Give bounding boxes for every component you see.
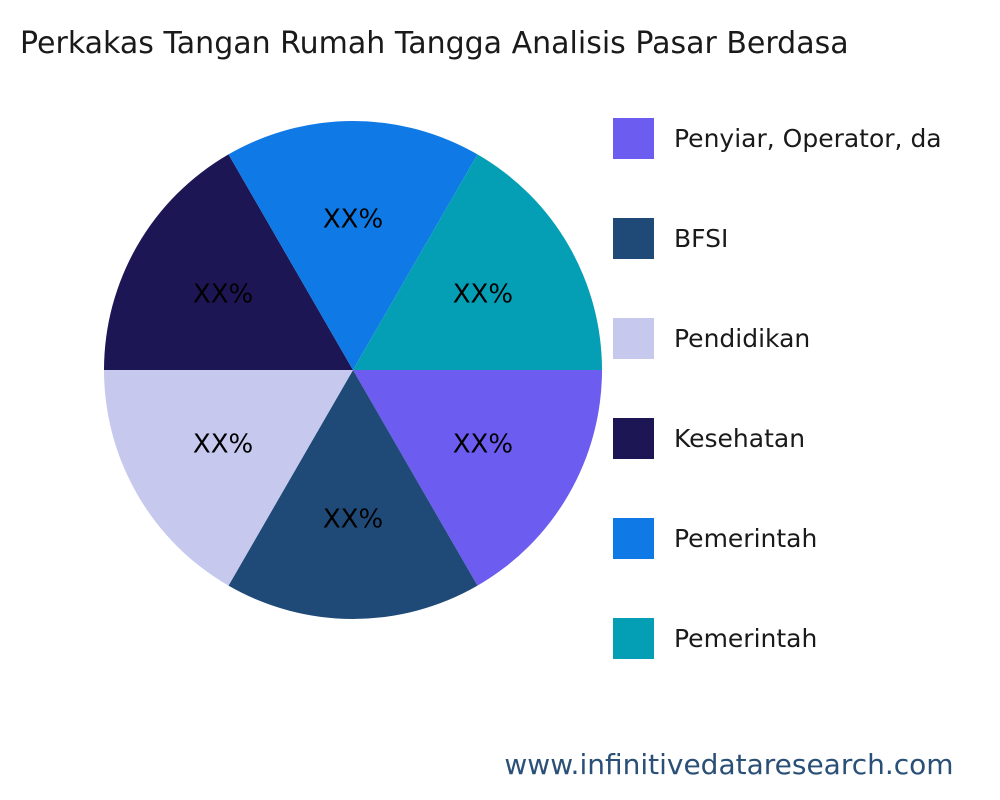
legend-item[interactable]: Pendidikan [613, 318, 1000, 418]
legend-item-label: Pemerintah [674, 621, 817, 656]
pie-chart-svg: XX%XX%XX%XX%XX%XX% [103, 120, 603, 620]
legend-swatch-icon [613, 218, 654, 259]
legend: Penyiar, Operator, da BFSI Pendidikan Ke… [613, 118, 1000, 718]
pie-chart: XX%XX%XX%XX%XX%XX% [103, 120, 603, 620]
legend-item-label: Kesehatan [674, 421, 805, 456]
legend-swatch-icon [613, 618, 654, 659]
pie-slice-value-label: XX% [453, 280, 513, 310]
legend-swatch-icon [613, 318, 654, 359]
legend-item[interactable]: Pemerintah [613, 618, 1000, 718]
pie-slice-value-label: XX% [453, 430, 513, 460]
pie-slice-value-label: XX% [323, 205, 383, 235]
legend-swatch-icon [613, 418, 654, 459]
legend-item-label: BFSI [674, 221, 728, 256]
legend-swatch-icon [613, 118, 654, 159]
legend-item-label: Pemerintah [674, 521, 817, 556]
pie-slice-value-label: XX% [193, 430, 253, 460]
page-title: Perkakas Tangan Rumah Tangga Analisis Pa… [20, 24, 1000, 64]
legend-item[interactable]: Pemerintah [613, 518, 1000, 618]
pie-slice-value-label: XX% [323, 505, 383, 535]
legend-item[interactable]: Penyiar, Operator, da [613, 118, 1000, 218]
legend-item[interactable]: Kesehatan [613, 418, 1000, 518]
pie-slice-value-label: XX% [193, 280, 253, 310]
legend-swatch-icon [613, 518, 654, 559]
footer-url-text: www.infinitivedataresearch.com [504, 748, 953, 781]
pie-slice-group [104, 121, 602, 619]
legend-item-label: Pendidikan [674, 321, 810, 356]
legend-item-label: Penyiar, Operator, da [674, 121, 942, 156]
legend-item[interactable]: BFSI [613, 218, 1000, 318]
footer-website-url[interactable]: www.infinitivedataresearch.com [0, 748, 1000, 781]
